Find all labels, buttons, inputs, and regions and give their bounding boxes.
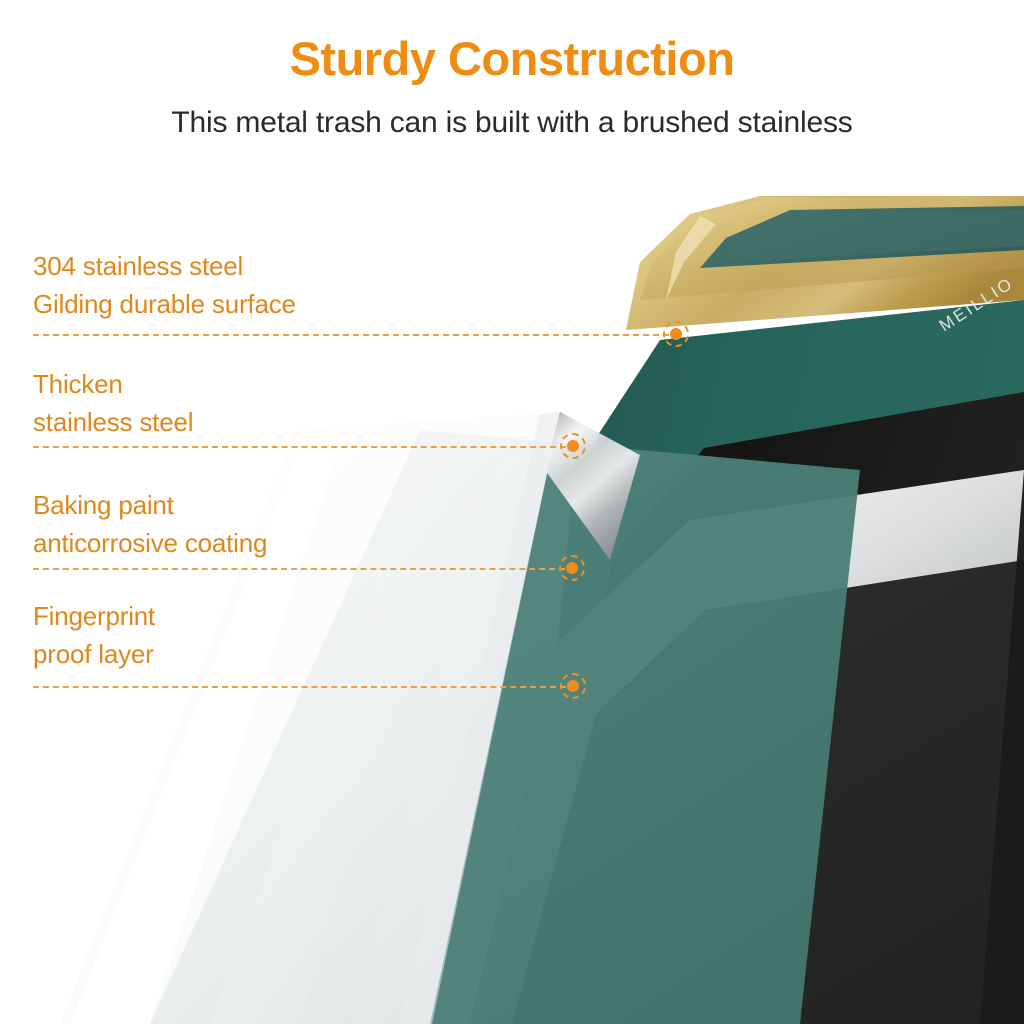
marker-gold-rim-icon[interactable] <box>663 321 689 347</box>
callout-3-line2: anticorrosive coating <box>33 527 267 561</box>
callout-4-leader-line <box>33 686 566 688</box>
callout-2-line2: stainless steel <box>33 406 193 440</box>
callout-4-line1: Fingerprint <box>33 600 155 634</box>
page-title: Sturdy Construction <box>0 34 1024 85</box>
callout-2-leader-line <box>33 446 566 448</box>
callout-1-line2: Gilding durable surface <box>33 288 296 322</box>
callout-1-line1: 304 stainless steel <box>33 250 243 284</box>
marker-fingerprint-layer-icon[interactable] <box>560 673 586 699</box>
product-infographic: MEILLIO 304 stainless steel Gilding dura… <box>0 0 1024 1024</box>
callout-3-line1: Baking paint <box>33 489 174 523</box>
page-subtitle: This metal trash can is built with a bru… <box>0 105 1024 141</box>
callout-1-leader-line <box>33 334 669 336</box>
callout-2-line1: Thicken <box>33 368 123 402</box>
callout-3-leader-line <box>33 568 565 570</box>
callout-4-line2: proof layer <box>33 638 154 672</box>
marker-paint-layer-icon[interactable] <box>559 555 585 581</box>
marker-steel-layer-icon[interactable] <box>560 433 586 459</box>
